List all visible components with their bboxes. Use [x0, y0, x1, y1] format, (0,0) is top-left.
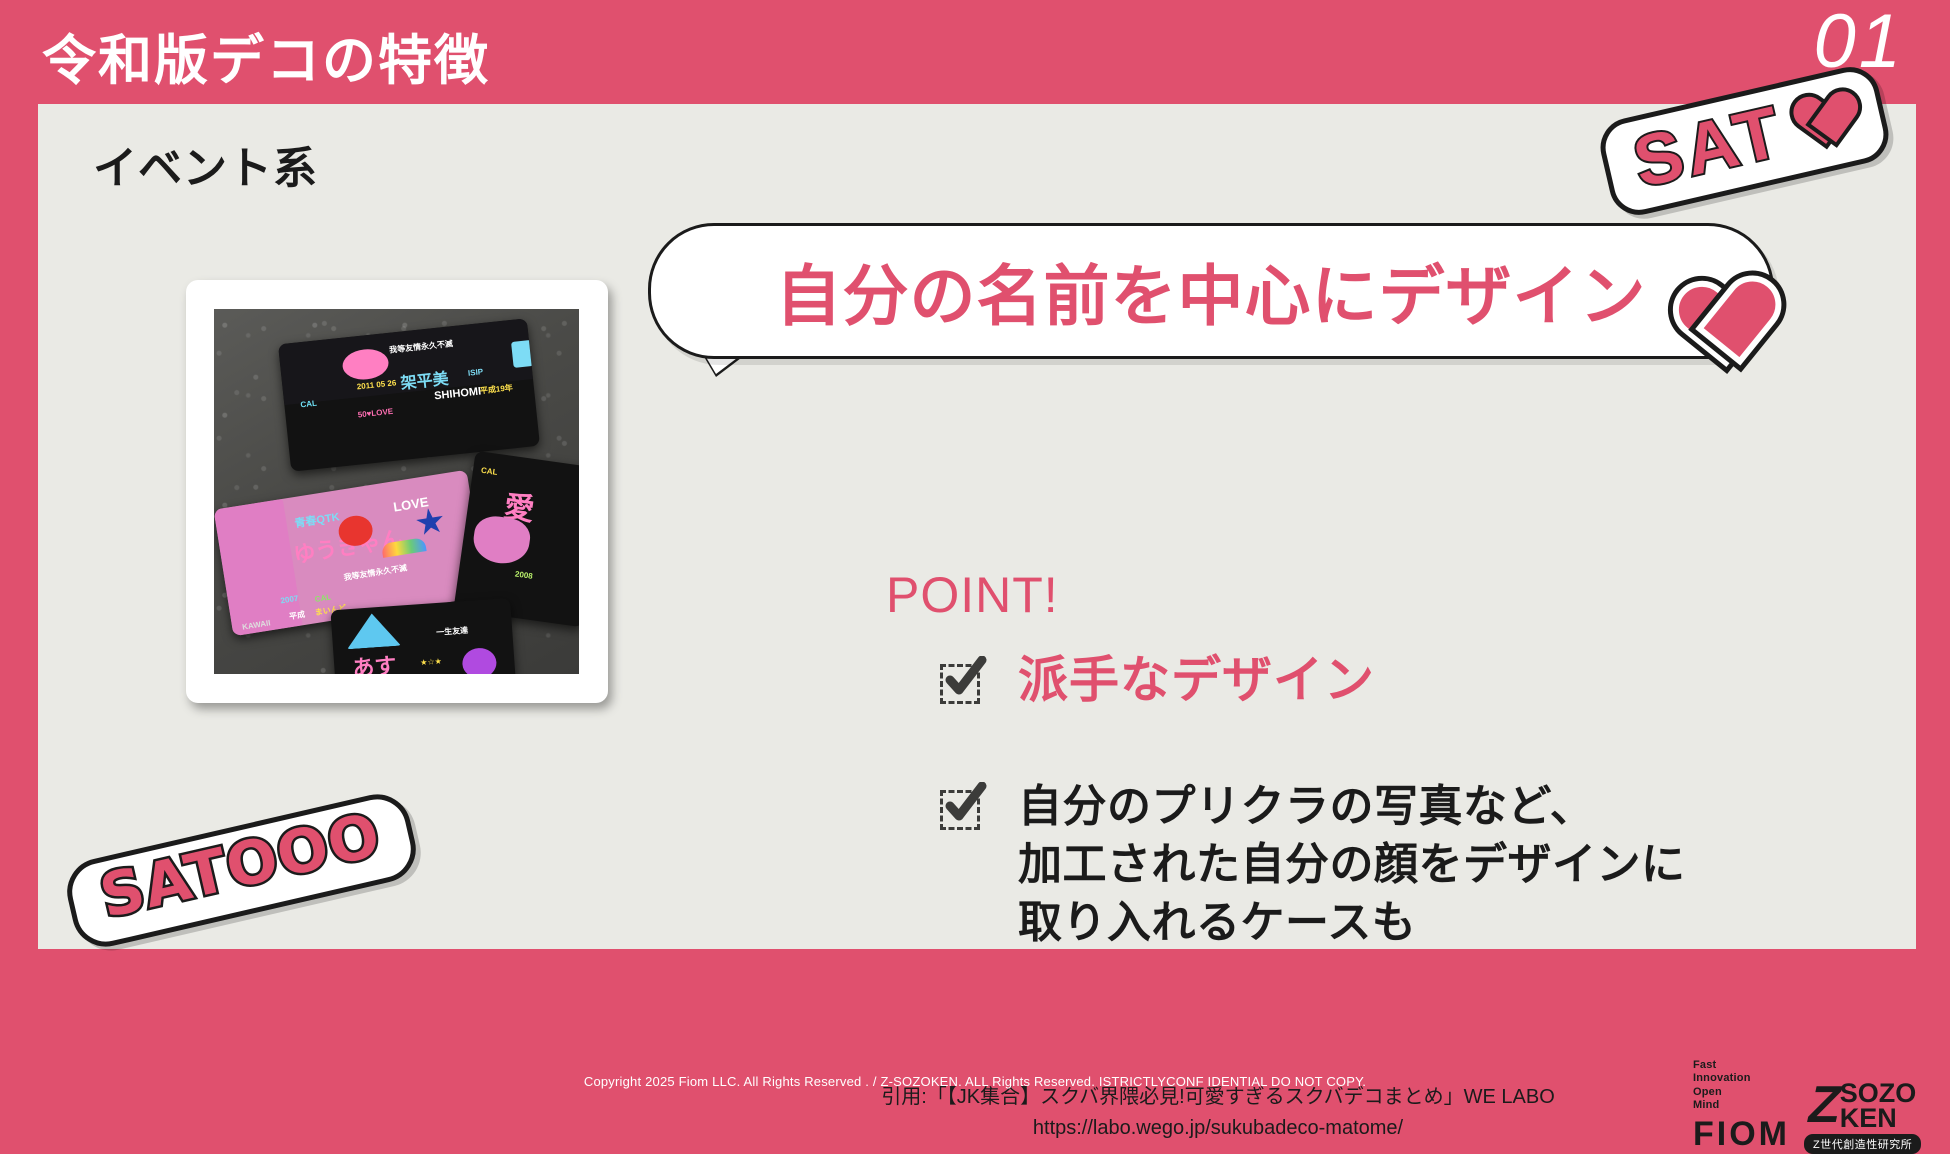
footer-copyright: Copyright 2025 Fiom LLC. All Rights Rese… — [0, 1074, 1950, 1089]
bag-text: ★☆★ — [420, 657, 442, 667]
zsozoken-subtitle: Z世代創造性研究所 — [1804, 1134, 1921, 1154]
bag-text: 青春QTK — [293, 508, 340, 531]
point-bullet-list: 派手なデザイン 自分のプリクラの写真など、 加工された自分の顔をデザインに 取り… — [938, 652, 1888, 952]
bag-text: CAL — [480, 466, 498, 477]
bag-text: 50♥LOVE — [357, 407, 393, 420]
slide-root: 令和版デコの特徴 01 イベント系 我等友情永久不滅 架平美 SHIHOMI 2… — [0, 0, 1950, 1097]
checkbox-checked-icon — [938, 660, 982, 704]
slide-header: 令和版デコの特徴 01 — [0, 0, 1950, 105]
bag-text: 平成 — [288, 609, 306, 622]
bag-sticker — [414, 506, 446, 538]
heart-icon — [1789, 89, 1857, 152]
speech-bubble-text: 自分の名前を中心にデザイン — [651, 243, 1771, 339]
fiom-tagline-line: Fast — [1693, 1059, 1790, 1072]
bag-text: 一生友達 — [436, 625, 469, 638]
bag-text: LOVE — [392, 494, 429, 514]
list-item: 派手なデザイン — [938, 652, 1888, 710]
photo-card: 我等友情永久不滅 架平美 SHIHOMI 2011 05 26 CAL 50♥L… — [186, 280, 608, 703]
bag-text: あす — [351, 648, 397, 674]
bullet-text-line: 取り入れるケースも — [1018, 894, 1686, 952]
bag-text: CAL — [300, 399, 317, 410]
bullet-text: 派手なデザイン — [1018, 652, 1375, 710]
bag-text: ISIP — [468, 367, 484, 378]
citation-url[interactable]: https://labo.wego.jp/sukubadeco-matome/ — [738, 1113, 1698, 1144]
citation: 引用:「【JK集合】スクバ界隈必見!可愛すぎるスクバデコまとめ」WE LABO … — [738, 1082, 1698, 1144]
fiom-tagline-line: Mind — [1693, 1099, 1790, 1112]
bag-sticker — [461, 647, 497, 674]
zsozoken-logo: Z SOZO KEN Z世代創造性研究所 — [1804, 1081, 1921, 1154]
speech-bubble: 自分の名前を中心にデザイン — [648, 223, 1774, 359]
bag-text: 2008 — [514, 569, 533, 580]
bag-text: 平成19年 — [479, 382, 513, 396]
bullet-text-line: 加工された自分の顔をデザインに — [1018, 836, 1686, 894]
heart-icon — [1674, 278, 1774, 371]
point-heading: POINT! — [886, 566, 1059, 624]
photo-bag-4: あす ★☆★ 一生友達 — [330, 598, 517, 674]
bag-sticker — [345, 612, 401, 650]
z-mark-icon: Z — [1804, 1082, 1843, 1129]
deco-bag-photo: 我等友情永久不滅 架平美 SHIHOMI 2011 05 26 CAL 50♥L… — [214, 309, 579, 674]
bullet-text-block: 自分のプリクラの写真など、 加工された自分の顔をデザインに 取り入れるケースも — [1018, 778, 1686, 952]
section-subtitle: イベント系 — [93, 132, 318, 196]
fiom-wordmark: FIOM — [1693, 1115, 1790, 1154]
bag-text: CAL — [314, 593, 332, 604]
photo-bag-1: 我等友情永久不滅 架平美 SHIHOMI 2011 05 26 CAL 50♥L… — [278, 318, 540, 471]
zsozoken-word-bottom: KEN — [1840, 1106, 1917, 1131]
page-title: 令和版デコの特徴 — [42, 16, 490, 95]
checkbox-checked-icon — [938, 786, 982, 830]
bag-text: 我等友情永久不滅 — [343, 562, 408, 583]
bullet-text-line: 自分のプリクラの写真など、 — [1018, 778, 1686, 836]
list-item: 自分のプリクラの写真など、 加工された自分の顔をデザインに 取り入れるケースも — [938, 778, 1888, 952]
